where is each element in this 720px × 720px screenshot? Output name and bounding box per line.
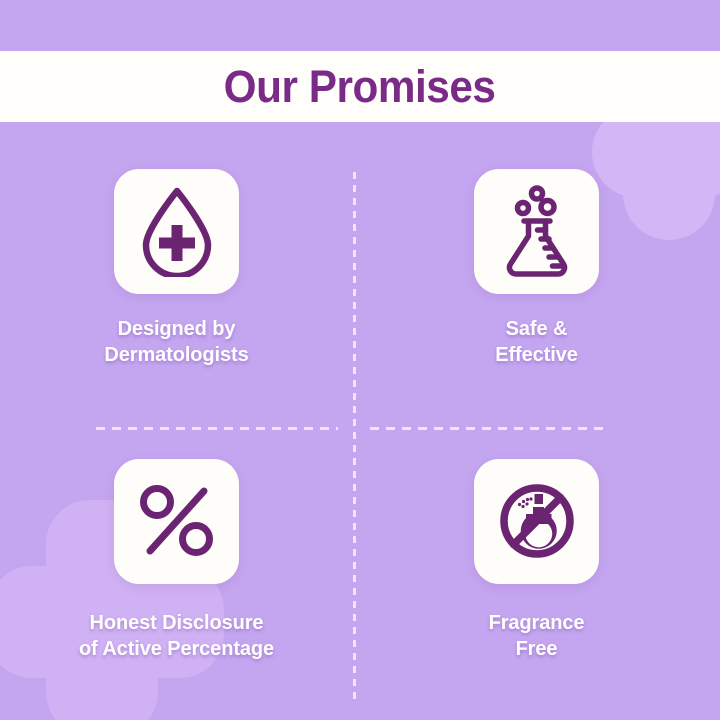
icon-card (474, 169, 599, 294)
icon-card (474, 459, 599, 584)
promises-grid: Designed by Dermatologists (0, 122, 720, 720)
header-banner: Our Promises (0, 51, 720, 122)
promises-poster: Our Promises Designed by Dermatologists (0, 0, 720, 720)
promise-label: Honest Disclosure of Active Percentage (79, 610, 274, 663)
icon-card (114, 169, 239, 294)
promise-item-honest-disclosure: Honest Disclosure of Active Percentage (0, 427, 353, 720)
promise-item-fragrance-free: Fragrance Free (353, 427, 720, 720)
no-fragrance-icon (493, 477, 581, 565)
promise-label: Safe & Effective (495, 316, 577, 369)
promise-item-safe-and-effective: Safe & Effective (353, 122, 720, 427)
flask-bubbles-icon (497, 185, 577, 277)
page-title: Our Promises (224, 64, 496, 109)
percent-icon (136, 480, 218, 562)
icon-card (114, 459, 239, 584)
promise-label: Fragrance Free (489, 610, 585, 663)
promise-label: Designed by Dermatologists (104, 316, 248, 369)
droplet-plus-icon (134, 185, 220, 277)
promise-item-designed-by-dermatologists: Designed by Dermatologists (0, 122, 353, 427)
